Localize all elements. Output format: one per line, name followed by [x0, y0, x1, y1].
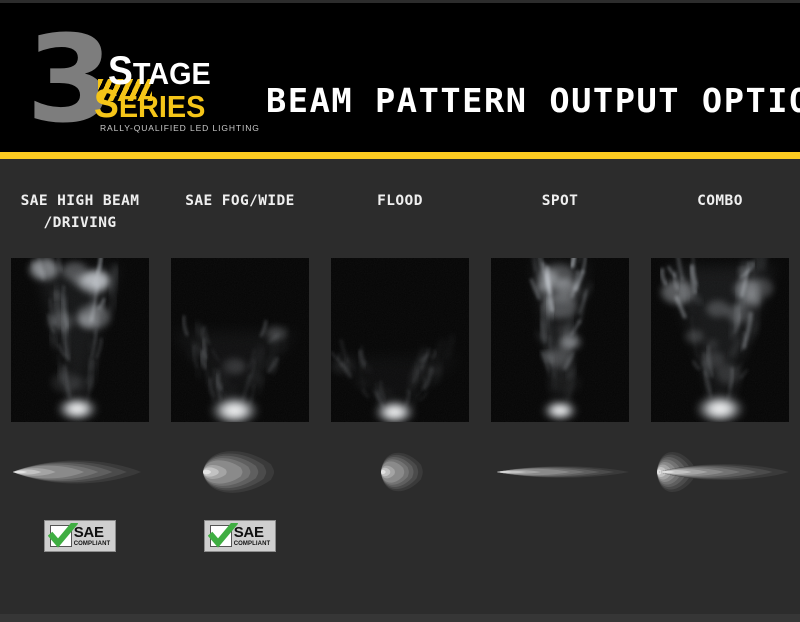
- beam-photo-fog-wide: [171, 258, 309, 422]
- column-label-combo: COMBO: [640, 190, 800, 212]
- beam-column-spot: SPOT: [480, 170, 640, 570]
- column-label-high-beam: SAE HIGH BEAM/DRIVING: [0, 190, 160, 234]
- sae-compliant-badge: SAECOMPLIANT: [204, 520, 276, 552]
- column-label-flood: FLOOD: [320, 190, 480, 212]
- brand-logo: 3 STAGE SERIES RALLY-QUALIFIED LED LIGHT…: [26, 30, 241, 136]
- beam-photo-flood: [331, 258, 469, 422]
- beam-column-high-beam: SAE HIGH BEAM/DRIVINGSAECOMPLIANT: [0, 170, 160, 570]
- column-label-line1: FLOOD: [320, 190, 480, 212]
- beam-column-fog-wide: SAE FOG/WIDESAECOMPLIANT: [160, 170, 320, 570]
- badge-subtitle: COMPLIANT: [234, 541, 271, 547]
- column-label-spot: SPOT: [480, 190, 640, 212]
- checkmark-icon: [210, 525, 232, 547]
- badge-subtitle: COMPLIANT: [74, 541, 111, 547]
- column-label-line1: SPOT: [480, 190, 640, 212]
- beam-photo-spot: [491, 258, 629, 422]
- beam-diagram-combo: [645, 442, 795, 502]
- logo-tagline: RALLY-QUALIFIED LED LIGHTING: [100, 123, 260, 133]
- bottom-strip: [0, 614, 800, 622]
- beam-diagram-spot: [485, 442, 635, 502]
- badge-title: SAE: [74, 525, 111, 540]
- column-label-fog-wide: SAE FOG/WIDE: [160, 190, 320, 212]
- accent-stripe: [0, 152, 800, 159]
- checkmark-icon: [50, 525, 72, 547]
- header-bar: 3 STAGE SERIES RALLY-QUALIFIED LED LIGHT…: [0, 3, 800, 152]
- column-label-line1: COMBO: [640, 190, 800, 212]
- beam-diagram-fog-wide: [165, 442, 315, 502]
- beam-column-flood: FLOOD: [320, 170, 480, 570]
- beam-diagram-high-beam: [5, 442, 155, 502]
- beam-photo-high-beam: [11, 258, 149, 422]
- sae-compliant-badge: SAECOMPLIANT: [44, 520, 116, 552]
- column-label-line2: /DRIVING: [0, 212, 160, 234]
- beam-column-combo: COMBO: [640, 170, 800, 570]
- badge-title: SAE: [234, 525, 271, 540]
- column-label-line1: SAE FOG/WIDE: [160, 190, 320, 212]
- logo-word-stage: STAGE: [108, 56, 211, 89]
- column-label-line1: SAE HIGH BEAM: [0, 190, 160, 212]
- beam-pattern-columns: SAE HIGH BEAM/DRIVINGSAECOMPLIANTSAE FOG…: [0, 170, 800, 570]
- beam-diagram-flood: [325, 442, 475, 502]
- logo-word-series: SERIES: [94, 89, 205, 122]
- beam-photo-combo: [651, 258, 789, 422]
- page-title: BEAM PATTERN OUTPUT OPTIONS: [266, 81, 800, 120]
